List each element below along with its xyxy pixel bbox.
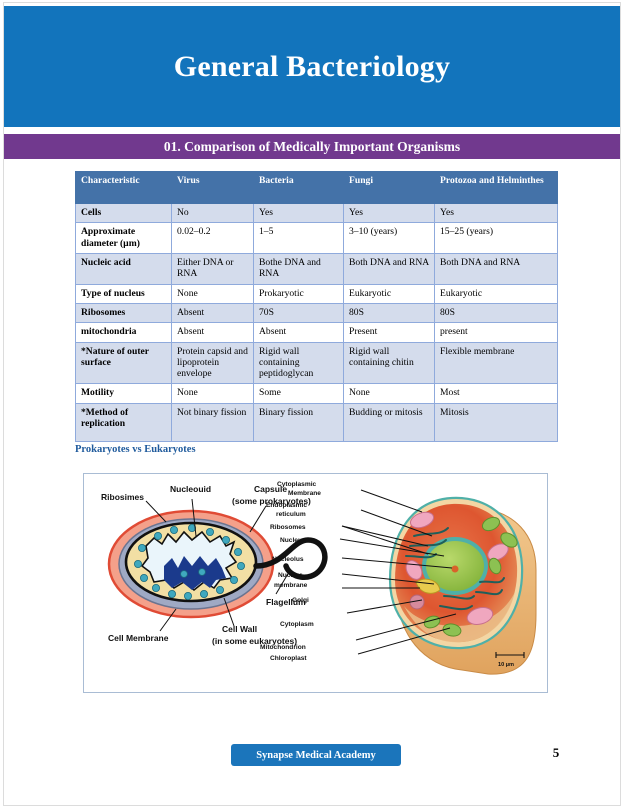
table-cell-virus: Not binary fission (172, 403, 254, 441)
table-cell-protozoa: Yes (435, 204, 558, 223)
table-cell-characteristic: Motility (76, 384, 172, 403)
table-cell-characteristic: Cells (76, 204, 172, 223)
table-body: Cells No Yes Yes Yes Approximate diamete… (76, 204, 558, 442)
table-row: *Nature of outer surface Protein capsid … (76, 342, 558, 384)
page-title: General Bacteriology (174, 50, 450, 84)
table-cell-fungi: Eukaryotic (344, 284, 435, 303)
table-cell-protozoa: Most (435, 384, 558, 403)
label-nuclear-membrane: membrane (274, 582, 308, 589)
table-header-bacteria: Bacteria (254, 172, 344, 204)
table-cell-bacteria: Absent (254, 323, 344, 342)
table-cell-characteristic: mitochondria (76, 323, 172, 342)
table-cell-virus: Either DNA or RNA (172, 253, 254, 284)
label-cytoplasm: Cytoplasm (280, 621, 314, 628)
label-reticulum: reticulum (276, 511, 306, 518)
label-ribosomes-prokaryote: Ribosimes (101, 492, 144, 502)
table-cell-protozoa: Flexible membrane (435, 342, 558, 384)
page-number: 5 (544, 745, 568, 761)
table-cell-fungi: Yes (344, 204, 435, 223)
page-title-banner: General Bacteriology (4, 6, 620, 127)
table-cell-fungi: Both DNA and RNA (344, 253, 435, 284)
table-cell-virus: No (172, 204, 254, 223)
table-cell-protozoa: 15–25 (years) (435, 223, 558, 254)
table-header-characteristic: Characteristic (76, 172, 172, 204)
table-cell-bacteria: Bothe DNA and RNA (254, 253, 344, 284)
footer-badge-label: Synapse Medical Academy (256, 750, 376, 761)
table-row: Motility None Some None Most (76, 384, 558, 403)
table-header-row-group: Characteristic Virus Bacteria Fungi Prot… (76, 172, 558, 204)
table-cell-fungi: None (344, 384, 435, 403)
table-cell-virus: Absent (172, 303, 254, 322)
table-cell-protozoa: 80S (435, 303, 558, 322)
table-cell-protozoa: Mitosis (435, 403, 558, 441)
table-cell-bacteria: Rigid wall containing peptidoglycan (254, 342, 344, 384)
cell-comparison-figure: Ribosimes Nucleouid Capsule (some prokar… (83, 473, 548, 693)
table-cell-characteristic: Type of nucleus (76, 284, 172, 303)
table-cell-characteristic: Ribosomes (76, 303, 172, 322)
table-cell-virus: Protein capsid and lipoprotein envelope (172, 342, 254, 384)
table-cell-characteristic: *Method of replication (76, 403, 172, 441)
label-membrane: Membrane (288, 490, 321, 497)
table-cell-virus: None (172, 384, 254, 403)
table-cell-bacteria: Prokaryotic (254, 284, 344, 303)
table-cell-protozoa: present (435, 323, 558, 342)
table-cell-fungi: 80S (344, 303, 435, 322)
label-nucleus: Nucleus (280, 537, 306, 544)
table-header-row: Characteristic Virus Bacteria Fungi Prot… (76, 172, 558, 204)
scale-bar-label: 10 µm (498, 662, 514, 668)
cell-diagram-svg: Ribosimes Nucleouid Capsule (some prokar… (84, 474, 547, 692)
label-mitochondrion: Mitochondrion (260, 644, 306, 651)
table-cell-fungi: 3–10 (years) (344, 223, 435, 254)
label-nucleolus: Nucleolus (272, 556, 304, 563)
label-chloroplast: Chloroplast (270, 655, 307, 662)
nucleolus-shape (452, 566, 459, 573)
label-cell-membrane: Cell Membrane (108, 633, 169, 643)
table-cell-fungi: Rigid wall containing chitin (344, 342, 435, 384)
table-row: Ribosomes Absent 70S 80S 80S (76, 303, 558, 322)
table-cell-bacteria: Binary fission (254, 403, 344, 441)
comparison-table: Characteristic Virus Bacteria Fungi Prot… (75, 171, 558, 442)
table-cell-virus: None (172, 284, 254, 303)
section-heading: 01. Comparison of Medically Important Or… (164, 139, 460, 155)
label-cell-wall: Cell Wall (222, 624, 257, 634)
eukaryote-cell-illustration (390, 498, 536, 674)
table-cell-characteristic: *Nature of outer surface (76, 342, 172, 384)
table-row: *Method of replication Not binary fissio… (76, 403, 558, 441)
table-header-virus: Virus (172, 172, 254, 204)
table-cell-bacteria: 1–5 (254, 223, 344, 254)
table-row: Approximate diameter (µm) 0.02–0.2 1–5 3… (76, 223, 558, 254)
section-heading-banner: 01. Comparison of Medically Important Or… (4, 134, 620, 159)
label-nuclear: Nuclear (278, 572, 303, 579)
label-nucleoid: Nucleouid (170, 484, 211, 494)
table-header-fungi: Fungi (344, 172, 435, 204)
table-cell-fungi: Present (344, 323, 435, 342)
table-cell-bacteria: 70S (254, 303, 344, 322)
table-cell-bacteria: Some (254, 384, 344, 403)
table-row: Nucleic acid Either DNA or RNA Bothe DNA… (76, 253, 558, 284)
table-header-protozoa: Protozoa and Helminthes (435, 172, 558, 204)
label-cytoplasmic: Cytoplasmic (277, 481, 317, 488)
table-cell-fungi: Budding or mitosis (344, 403, 435, 441)
document-page: General Bacteriology 01. Comparison of M… (3, 2, 621, 806)
table-cell-virus: Absent (172, 323, 254, 342)
table-cell-protozoa: Eukaryotic (435, 284, 558, 303)
label-endoplasmic: Endoplasmic (266, 502, 307, 509)
table-row: Cells No Yes Yes Yes (76, 204, 558, 223)
table-row: mitochondria Absent Absent Present prese… (76, 323, 558, 342)
footer-badge[interactable]: Synapse Medical Academy (231, 744, 401, 766)
table-row: Type of nucleus None Prokaryotic Eukaryo… (76, 284, 558, 303)
sub-heading: Prokaryotes vs Eukaryotes (75, 444, 196, 455)
table-cell-bacteria: Yes (254, 204, 344, 223)
table-cell-characteristic: Nucleic acid (76, 253, 172, 284)
table-cell-characteristic: Approximate diameter (µm) (76, 223, 172, 254)
table-cell-virus: 0.02–0.2 (172, 223, 254, 254)
label-golgi: Golgi (292, 597, 309, 604)
table-cell-protozoa: Both DNA and RNA (435, 253, 558, 284)
label-ribosomes-eukaryote: Ribosomes (270, 524, 306, 531)
